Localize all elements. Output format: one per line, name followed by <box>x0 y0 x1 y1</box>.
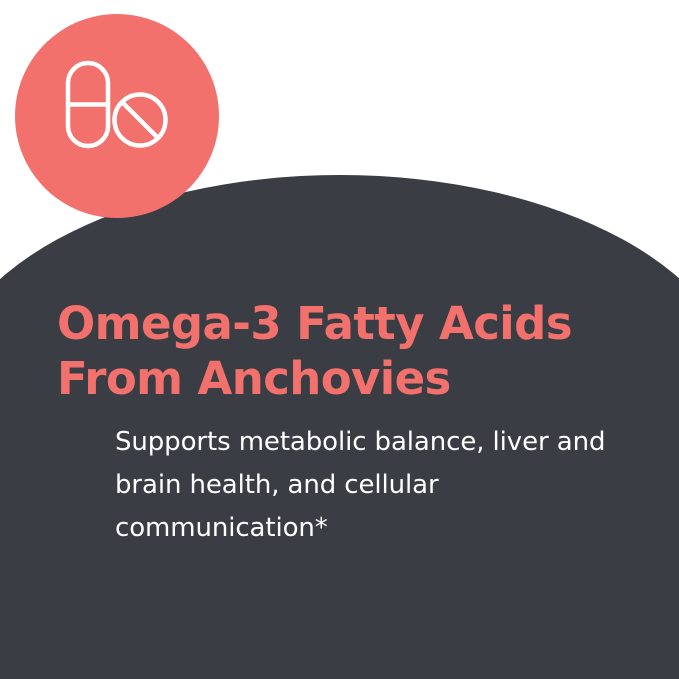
page-subtitle: Supports metabolic balance, liver and br… <box>115 421 645 550</box>
page-title: Omega-3 Fatty Acids From Anchovies <box>57 297 617 407</box>
text-content: Omega-3 Fatty Acids From Anchovies Suppo… <box>0 0 679 679</box>
product-feature-banner: Omega-3 Fatty Acids From Anchovies Suppo… <box>0 0 679 679</box>
